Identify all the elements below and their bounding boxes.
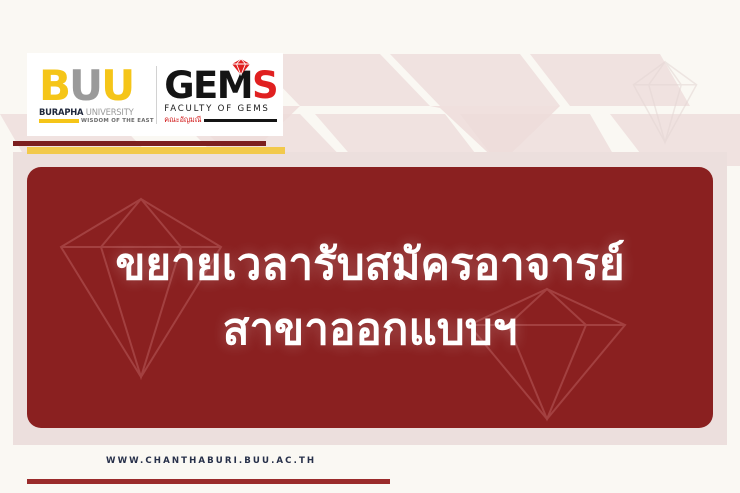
buu-logo: BUU BURAPHA UNIVERSITY WISDOM OF THE EAS…: [33, 66, 154, 124]
buu-wordmark: BUU: [39, 66, 154, 106]
motto-bar-accent: [39, 119, 79, 123]
website-url: WWW.CHANTHABURI.BUU.AC.TH: [106, 456, 316, 466]
headline-line-2: สาขาออกแบบฯ: [115, 301, 624, 359]
announcement-poster: BUU BURAPHA UNIVERSITY WISDOM OF THE EAS…: [0, 0, 740, 493]
footer-accent-rule: [27, 479, 390, 484]
buu-letter-u2: U: [101, 61, 133, 110]
headline-card: ขยายเวลารับสมัครอาจารย์ สาขาออกแบบฯ: [27, 167, 713, 428]
page-title: ขยายเวลารับสมัครอาจารย์ สาขาออกแบบฯ: [115, 236, 624, 358]
buu-name-burapha: BURAPHA: [39, 107, 83, 117]
logo-divider: [156, 66, 157, 124]
gems-subtitle: FACULTY OF GEMS: [164, 104, 277, 114]
maroon-accent-rule: [13, 141, 266, 146]
buu-name-university: UNIVERSITY: [83, 107, 133, 117]
gems-thai-subtitle: คณะอัญมณี: [164, 115, 201, 126]
buu-gems-logo: BUU BURAPHA UNIVERSITY WISDOM OF THE EAS…: [27, 53, 283, 136]
red-diamond-icon: [230, 58, 252, 76]
buu-motto-row: WISDOM OF THE EAST: [39, 118, 154, 124]
gems-wordmark: GEMS: [164, 67, 277, 105]
buu-letter-u1: U: [69, 61, 101, 110]
headline-line-1: ขยายเวลารับสมัครอาจารย์: [115, 236, 624, 294]
buu-motto-text: WISDOM OF THE EAST: [81, 118, 154, 124]
diamond-watermark-icon: [612, 58, 718, 146]
buu-letter-b: B: [39, 61, 69, 110]
buu-university-name: BURAPHA UNIVERSITY: [39, 107, 154, 117]
gems-logo: GEMS FACULTY OF GEMS คณะอัญมณี: [164, 63, 277, 126]
gems-letter-s: S: [252, 64, 277, 107]
gems-rule-accent: [204, 119, 277, 122]
yellow-accent-rule: [27, 147, 285, 154]
gems-thai-row: คณะอัญมณี: [164, 115, 277, 126]
